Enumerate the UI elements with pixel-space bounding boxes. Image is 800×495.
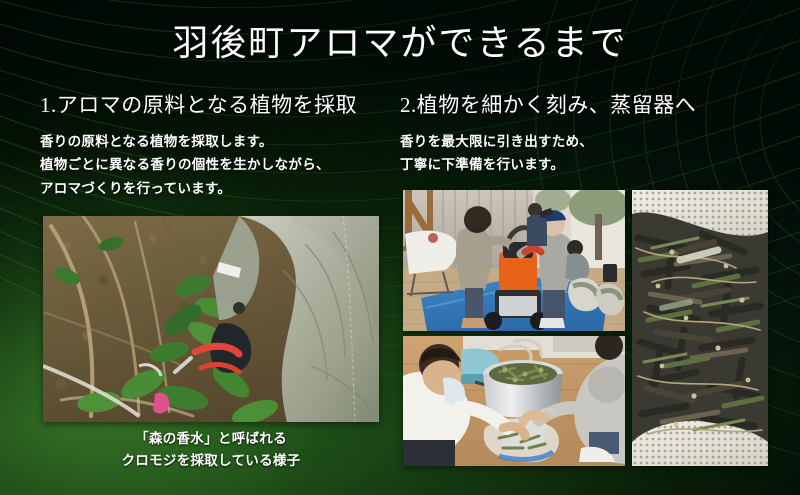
page-title: 羽後町アロマができるまで: [0, 14, 800, 66]
step-2-column: 2.植物を細かく刻み、蒸留器へ 香りを最大限に引き出すため、 丁寧に下準備を行い…: [400, 92, 775, 177]
step-2-body: 香りを最大限に引き出すため、 丁寧に下準備を行います。: [400, 130, 775, 176]
step-1-body-line-3: アロマづくりを行っています。: [40, 177, 390, 200]
photo-harvest-caption: 「森の香水」と呼ばれる クロモジを採取している様子: [43, 428, 379, 471]
poster-root: 羽後町アロマができるまで 1.アロマの原料となる植物を採取 香りの原料となる植物…: [0, 0, 800, 495]
step-1-heading: 1.アロマの原料となる植物を採取: [40, 92, 390, 118]
step-2-heading: 2.植物を細かく刻み、蒸留器へ: [400, 92, 775, 118]
step-1-body-line-1: 香りの原料となる植物を採取します。: [40, 130, 390, 153]
photo-chipper: [403, 190, 625, 331]
photo-branches: [632, 190, 768, 466]
step-1-body-line-2: 植物ごとに異なる香りの個性を生かしながら、: [40, 153, 390, 176]
caption-line-1: 「森の香水」と呼ばれる: [43, 428, 379, 450]
step-2-body-line-1: 香りを最大限に引き出すため、: [400, 130, 775, 153]
step-2-body-line-2: 丁寧に下準備を行います。: [400, 153, 775, 176]
caption-line-2: クロモジを採取している様子: [43, 450, 379, 472]
step-1-column: 1.アロマの原料となる植物を採取 香りの原料となる植物を採取します。 植物ごとに…: [40, 92, 390, 200]
step-1-body: 香りの原料となる植物を採取します。 植物ごとに異なる香りの個性を生かしながら、 …: [40, 130, 390, 200]
photo-still: [403, 336, 625, 466]
photo-harvest: [43, 216, 379, 422]
